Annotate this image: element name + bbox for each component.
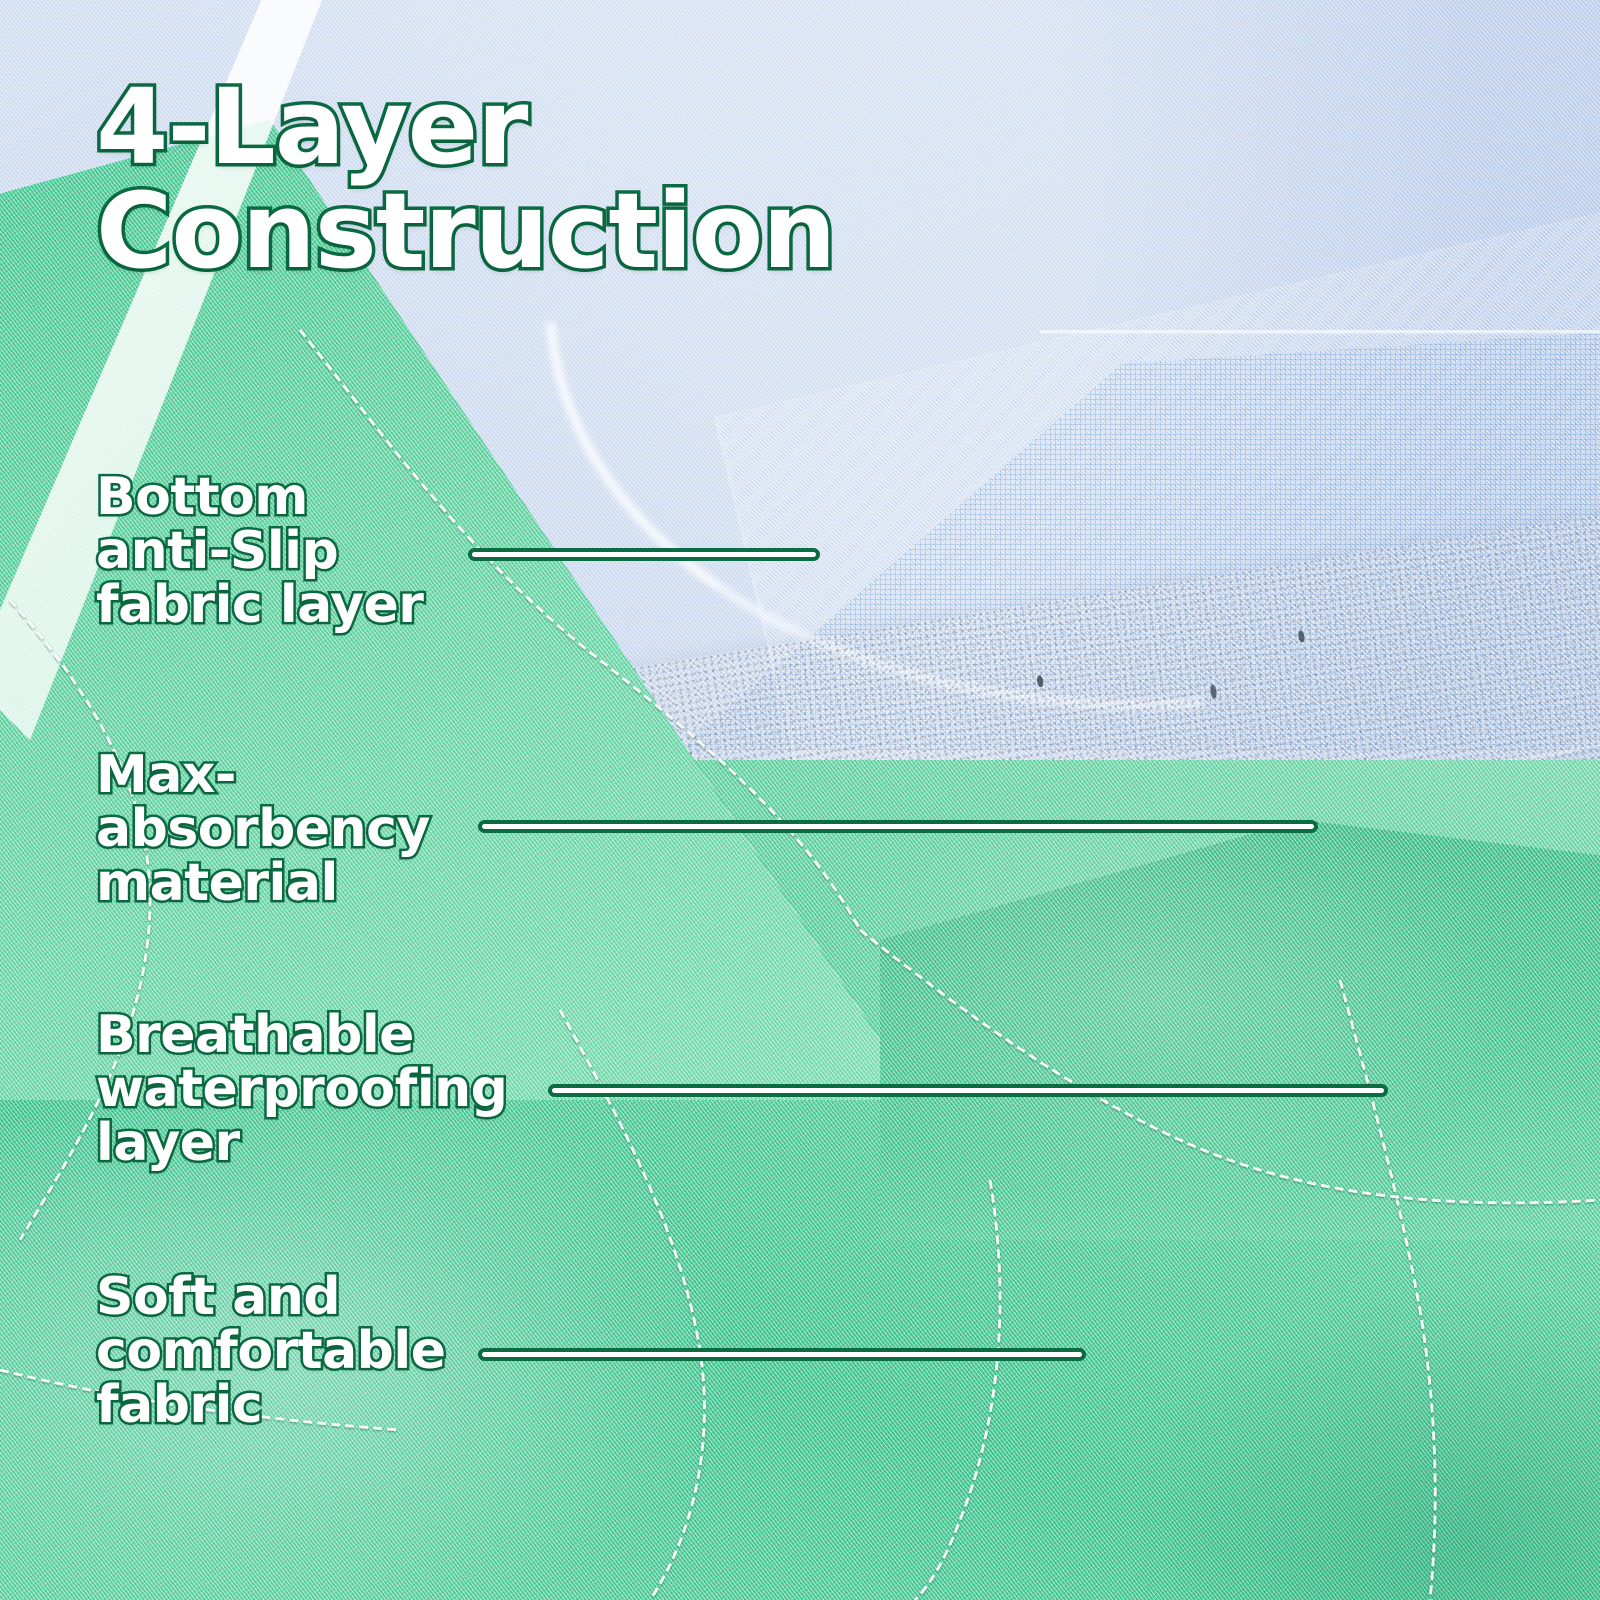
product-infographic: 4-Layer Construction Bottom anti-Slip fa… xyxy=(0,0,1600,1600)
layer-label-bottom-anti-slip: Bottom anti-Slip fabric layer xyxy=(96,470,423,632)
leader-line-layer-2 xyxy=(478,820,1318,833)
leader-line-layer-1 xyxy=(468,548,820,561)
layer-label-soft-comfortable: Soft and comfortable fabric xyxy=(96,1270,446,1432)
layer-label-max-absorbency: Max- absorbency material xyxy=(96,748,430,910)
title-line-2: Construction xyxy=(96,182,996,282)
leader-line-layer-4 xyxy=(478,1348,1086,1361)
layer-label-breathable-waterproofing: Breathable waterproofing layer xyxy=(96,1008,507,1170)
leader-line-layer-3 xyxy=(548,1084,1388,1097)
title-line-1: 4-Layer xyxy=(96,78,996,178)
page-title: 4-Layer Construction xyxy=(96,78,996,282)
